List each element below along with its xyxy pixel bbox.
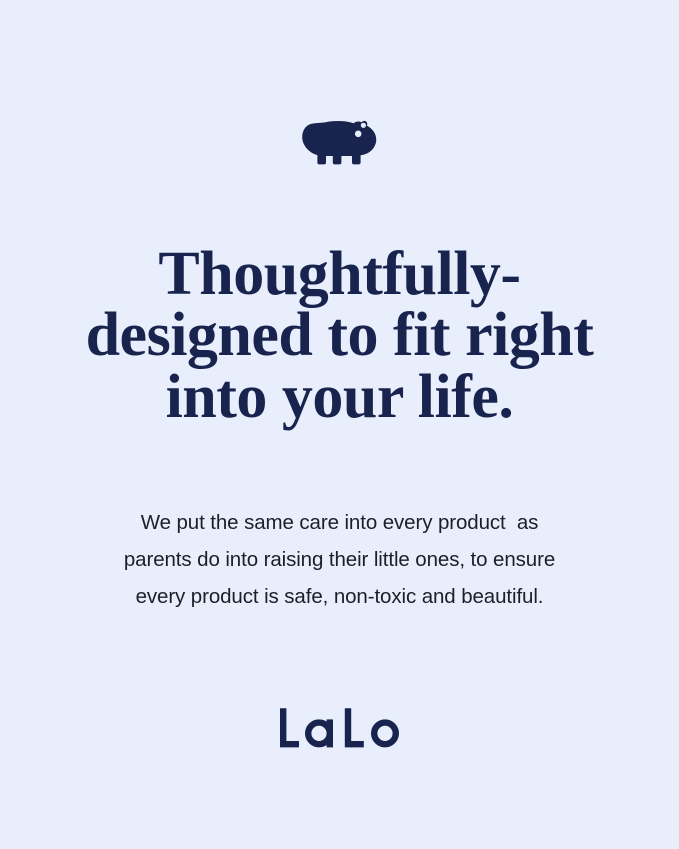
body-line-3: every product is safe, non-toxic and bea…	[75, 578, 605, 615]
body-line-1: We put the same care into every product …	[75, 504, 605, 541]
headline-line-2: designed to fit right	[60, 305, 620, 366]
headline-line-1: Thoughtfully-	[60, 244, 620, 305]
marketing-card: Thoughtfully- designed to fit right into…	[0, 0, 679, 849]
body-paragraph: We put the same care into every product …	[75, 504, 605, 615]
body-line-2: parents do into raising their little one…	[75, 541, 605, 578]
headline: Thoughtfully- designed to fit right into…	[60, 244, 620, 428]
hippo-icon	[300, 116, 380, 168]
headline-line-3: into your life.	[60, 367, 620, 428]
hippo-eye	[354, 131, 361, 138]
lalo-wordmark	[0, 705, 679, 751]
hippo-ear-gap	[360, 123, 365, 128]
